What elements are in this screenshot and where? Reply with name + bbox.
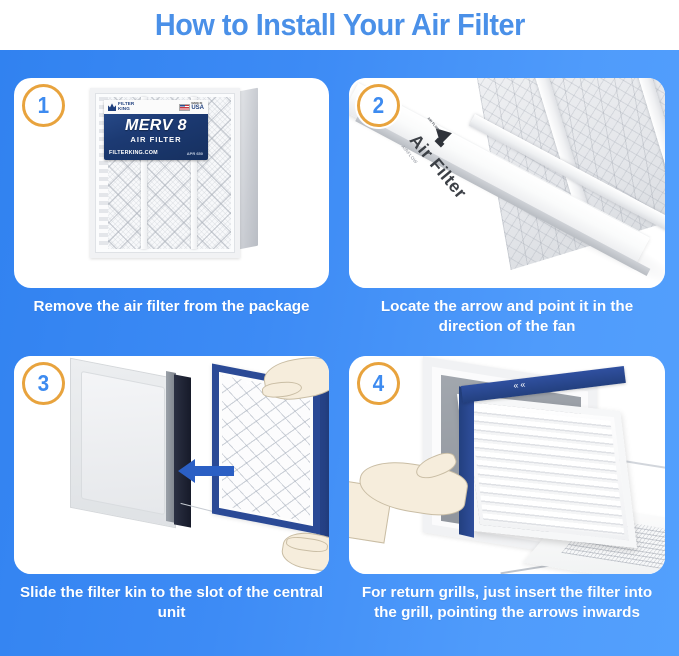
step-4-caption: For return grills, just insert the filte… [349,583,665,623]
made-in-usa-badge: MADE IN USA [179,103,204,112]
step-1: 1 [14,78,329,356]
step-1-card: 1 [14,78,329,288]
slide-direction-arrow-icon [194,466,234,476]
filter-arrow-marks: «« [513,379,528,391]
filter-front-face: FILTER KING MADE IN [90,88,240,258]
header-band: How to Install Your Air Filter [0,0,679,50]
page-title: How to Install Your Air Filter [155,7,525,43]
unit-slot-inner [81,371,165,515]
step-2-number: 2 [373,94,385,117]
infographic-root: How to Install Your Air Filter 1 [0,0,679,656]
hinged-grill-door [457,394,637,548]
step-1-caption: Remove the air filter from the package [14,297,329,317]
apr-rating: APR 650 [187,151,203,156]
step-3-caption: Slide the filter kin to the slot of the … [14,583,329,623]
website-url: FILTERKING.COM [109,150,158,156]
step-2-caption: Locate the arrow and point it in the dir… [349,297,665,337]
step-3-number: 3 [38,372,50,395]
us-flag-icon [179,104,190,111]
step-2-card: 2 AIR FLOW Air Filter [349,78,665,288]
brand-line-2: KING [118,106,130,111]
made-in-usa-text: MADE IN USA [191,103,204,112]
step-4-card: 4 « [349,356,665,574]
label-subtitle: AIR FILTER [104,135,208,144]
filter-arrow-marks: » [246,377,251,387]
step-1-badge: 1 [22,84,65,127]
step-4: 4 « [349,356,665,648]
steps-grid: 1 [0,50,679,656]
step-4-badge: 4 [357,362,400,405]
merv-rating: MERV 8 [104,117,208,135]
filter-king-logo: FILTER KING [108,102,134,111]
step-1-number: 1 [38,94,50,117]
grill-louvers [470,406,625,536]
crown-icon [108,103,116,111]
usa-label: USA [191,105,204,111]
step-3-card: 3 » [14,356,329,574]
step-4-number: 4 [373,372,385,395]
product-label: FILTER KING MADE IN [104,100,208,160]
steps-background: 1 [0,50,679,656]
central-unit-slot [70,358,176,529]
step-3: 3 » [14,356,329,648]
air-filter-product-photo: FILTER KING MADE IN [90,88,258,260]
step-2-badge: 2 [357,84,400,127]
step-2: 2 AIR FLOW Air Filter [349,78,665,356]
brand-name: FILTER KING [118,102,134,111]
label-footer-strip: FILTERKING.COM APR 650 [109,150,203,156]
label-header-strip: FILTER KING MADE IN [104,100,208,114]
filter-frame-left-edge [459,386,474,537]
step-3-badge: 3 [22,362,65,405]
